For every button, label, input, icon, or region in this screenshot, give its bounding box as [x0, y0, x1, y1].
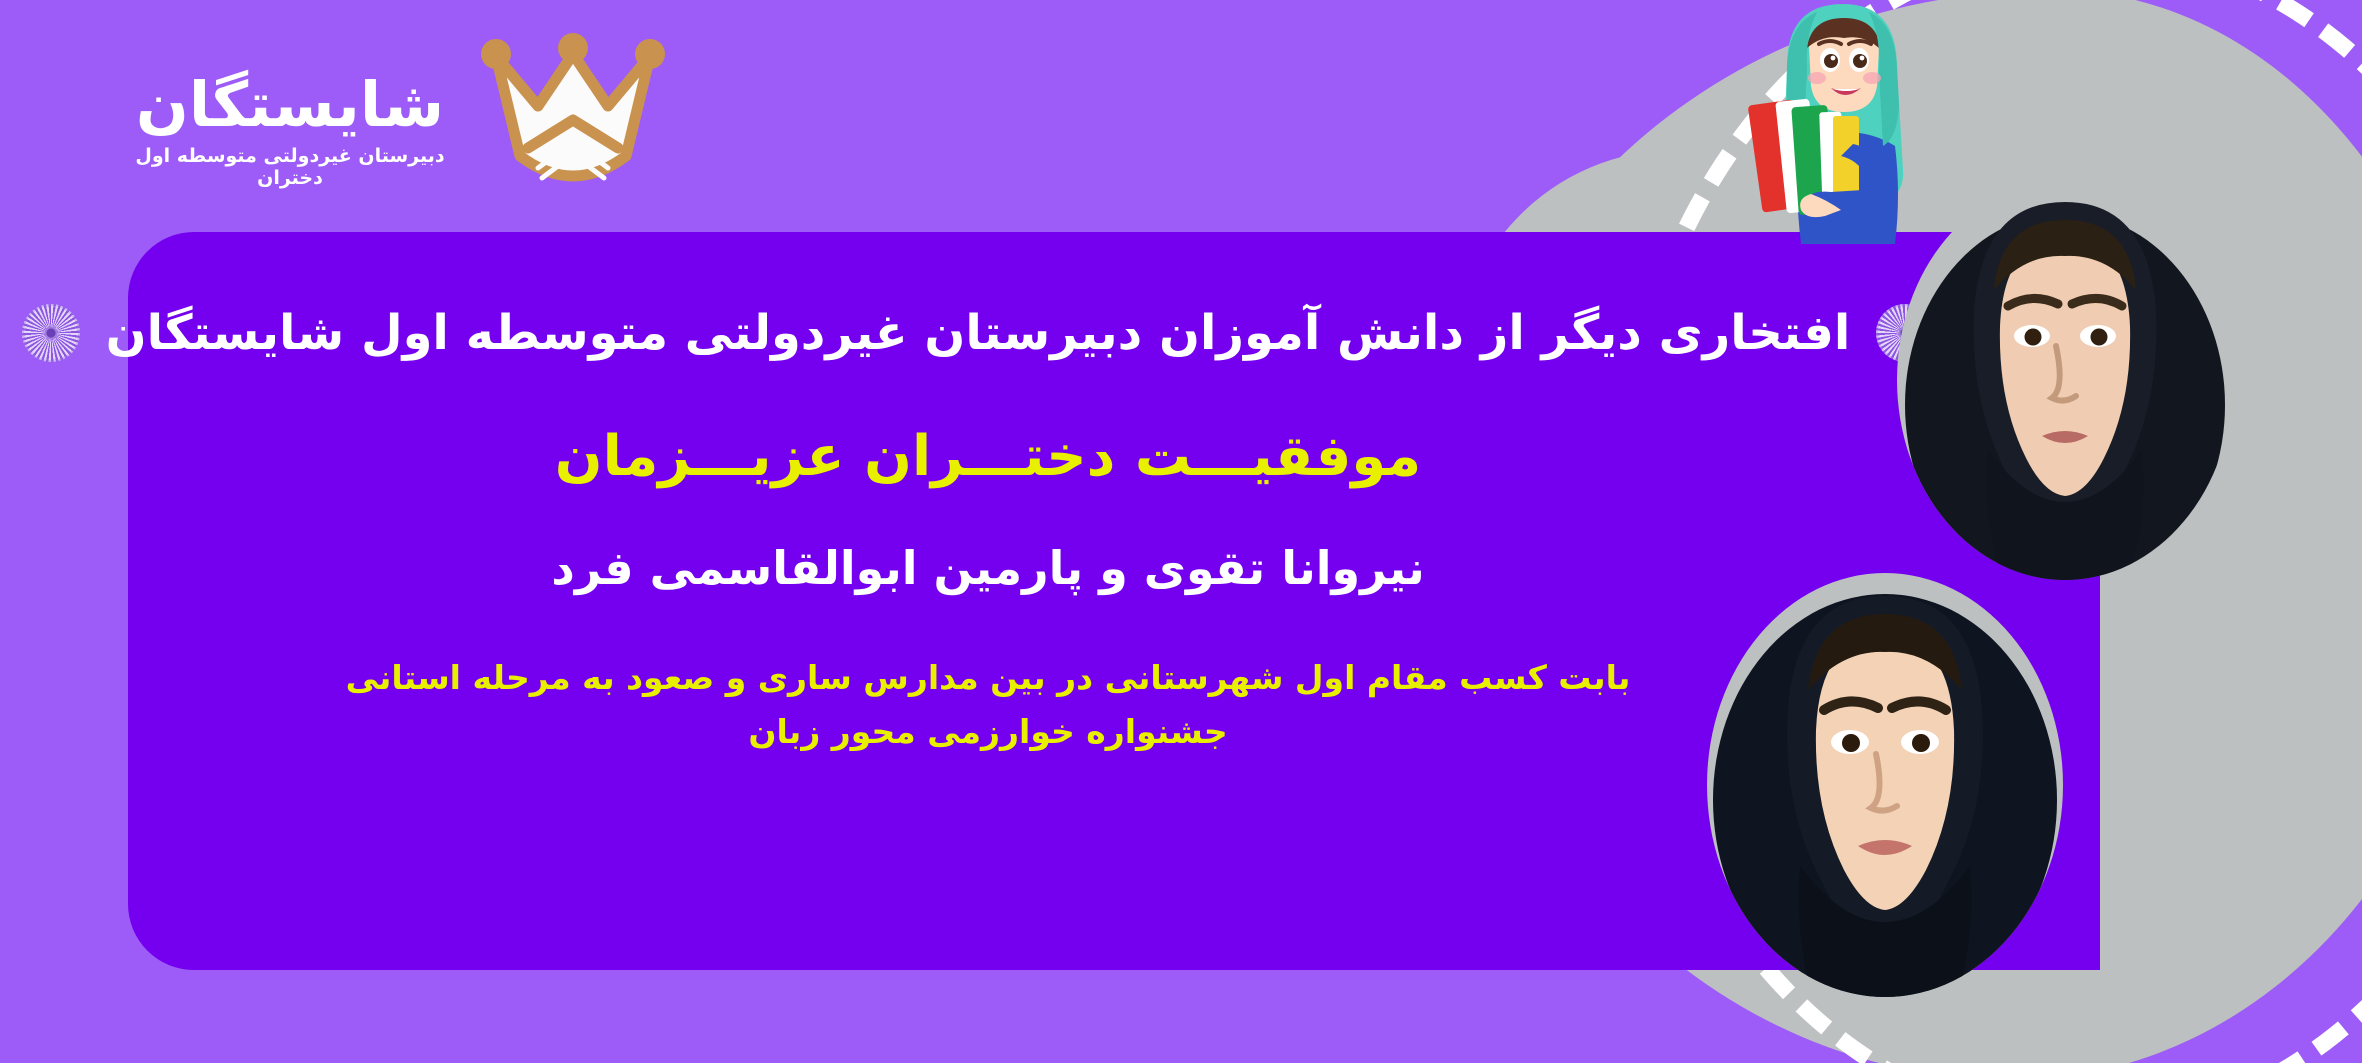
student-photo-bottom [1700, 560, 2070, 1010]
brand-text: شایستگان دبیرستان غیردولتی متوسطه اول دخ… [118, 28, 462, 189]
banner-headline: افتخاری دیگر از دانش آموزان دبیرستان غیر… [106, 307, 1851, 360]
crown-icon [468, 28, 678, 208]
student-photo-top [1890, 150, 2240, 580]
reason-text: بابت کسب مقام اول شهرستانی در بین مدارس … [128, 651, 1848, 760]
brand-name: شایستگان [118, 74, 462, 136]
headline-row: افتخاری دیگر از دانش آموزان دبیرستان غیر… [128, 304, 1848, 362]
poster-canvas: شایستگان دبیرستان غیردولتی متوسطه اول دخ… [0, 0, 2362, 1063]
banner-content: افتخاری دیگر از دانش آموزان دبیرستان غیر… [128, 232, 1848, 970]
flower-icon [22, 304, 80, 362]
brand-subtitle: دبیرستان غیردولتی متوسطه اول دختران [118, 145, 462, 189]
brand-lockup: شایستگان دبیرستان غیردولتی متوسطه اول دخ… [118, 28, 678, 218]
reason-line-1: بابت کسب مقام اول شهرستانی در بین مدارس … [128, 651, 1848, 705]
student-names: نیروانا تقوی و پارمین ابوالقاسمی فرد [128, 541, 1848, 595]
reason-line-2: جشنواره خوارزمی محور زبان [128, 705, 1848, 759]
congrats-text: موفقیـــت دختـــران عزیـــزمان [128, 424, 1848, 489]
